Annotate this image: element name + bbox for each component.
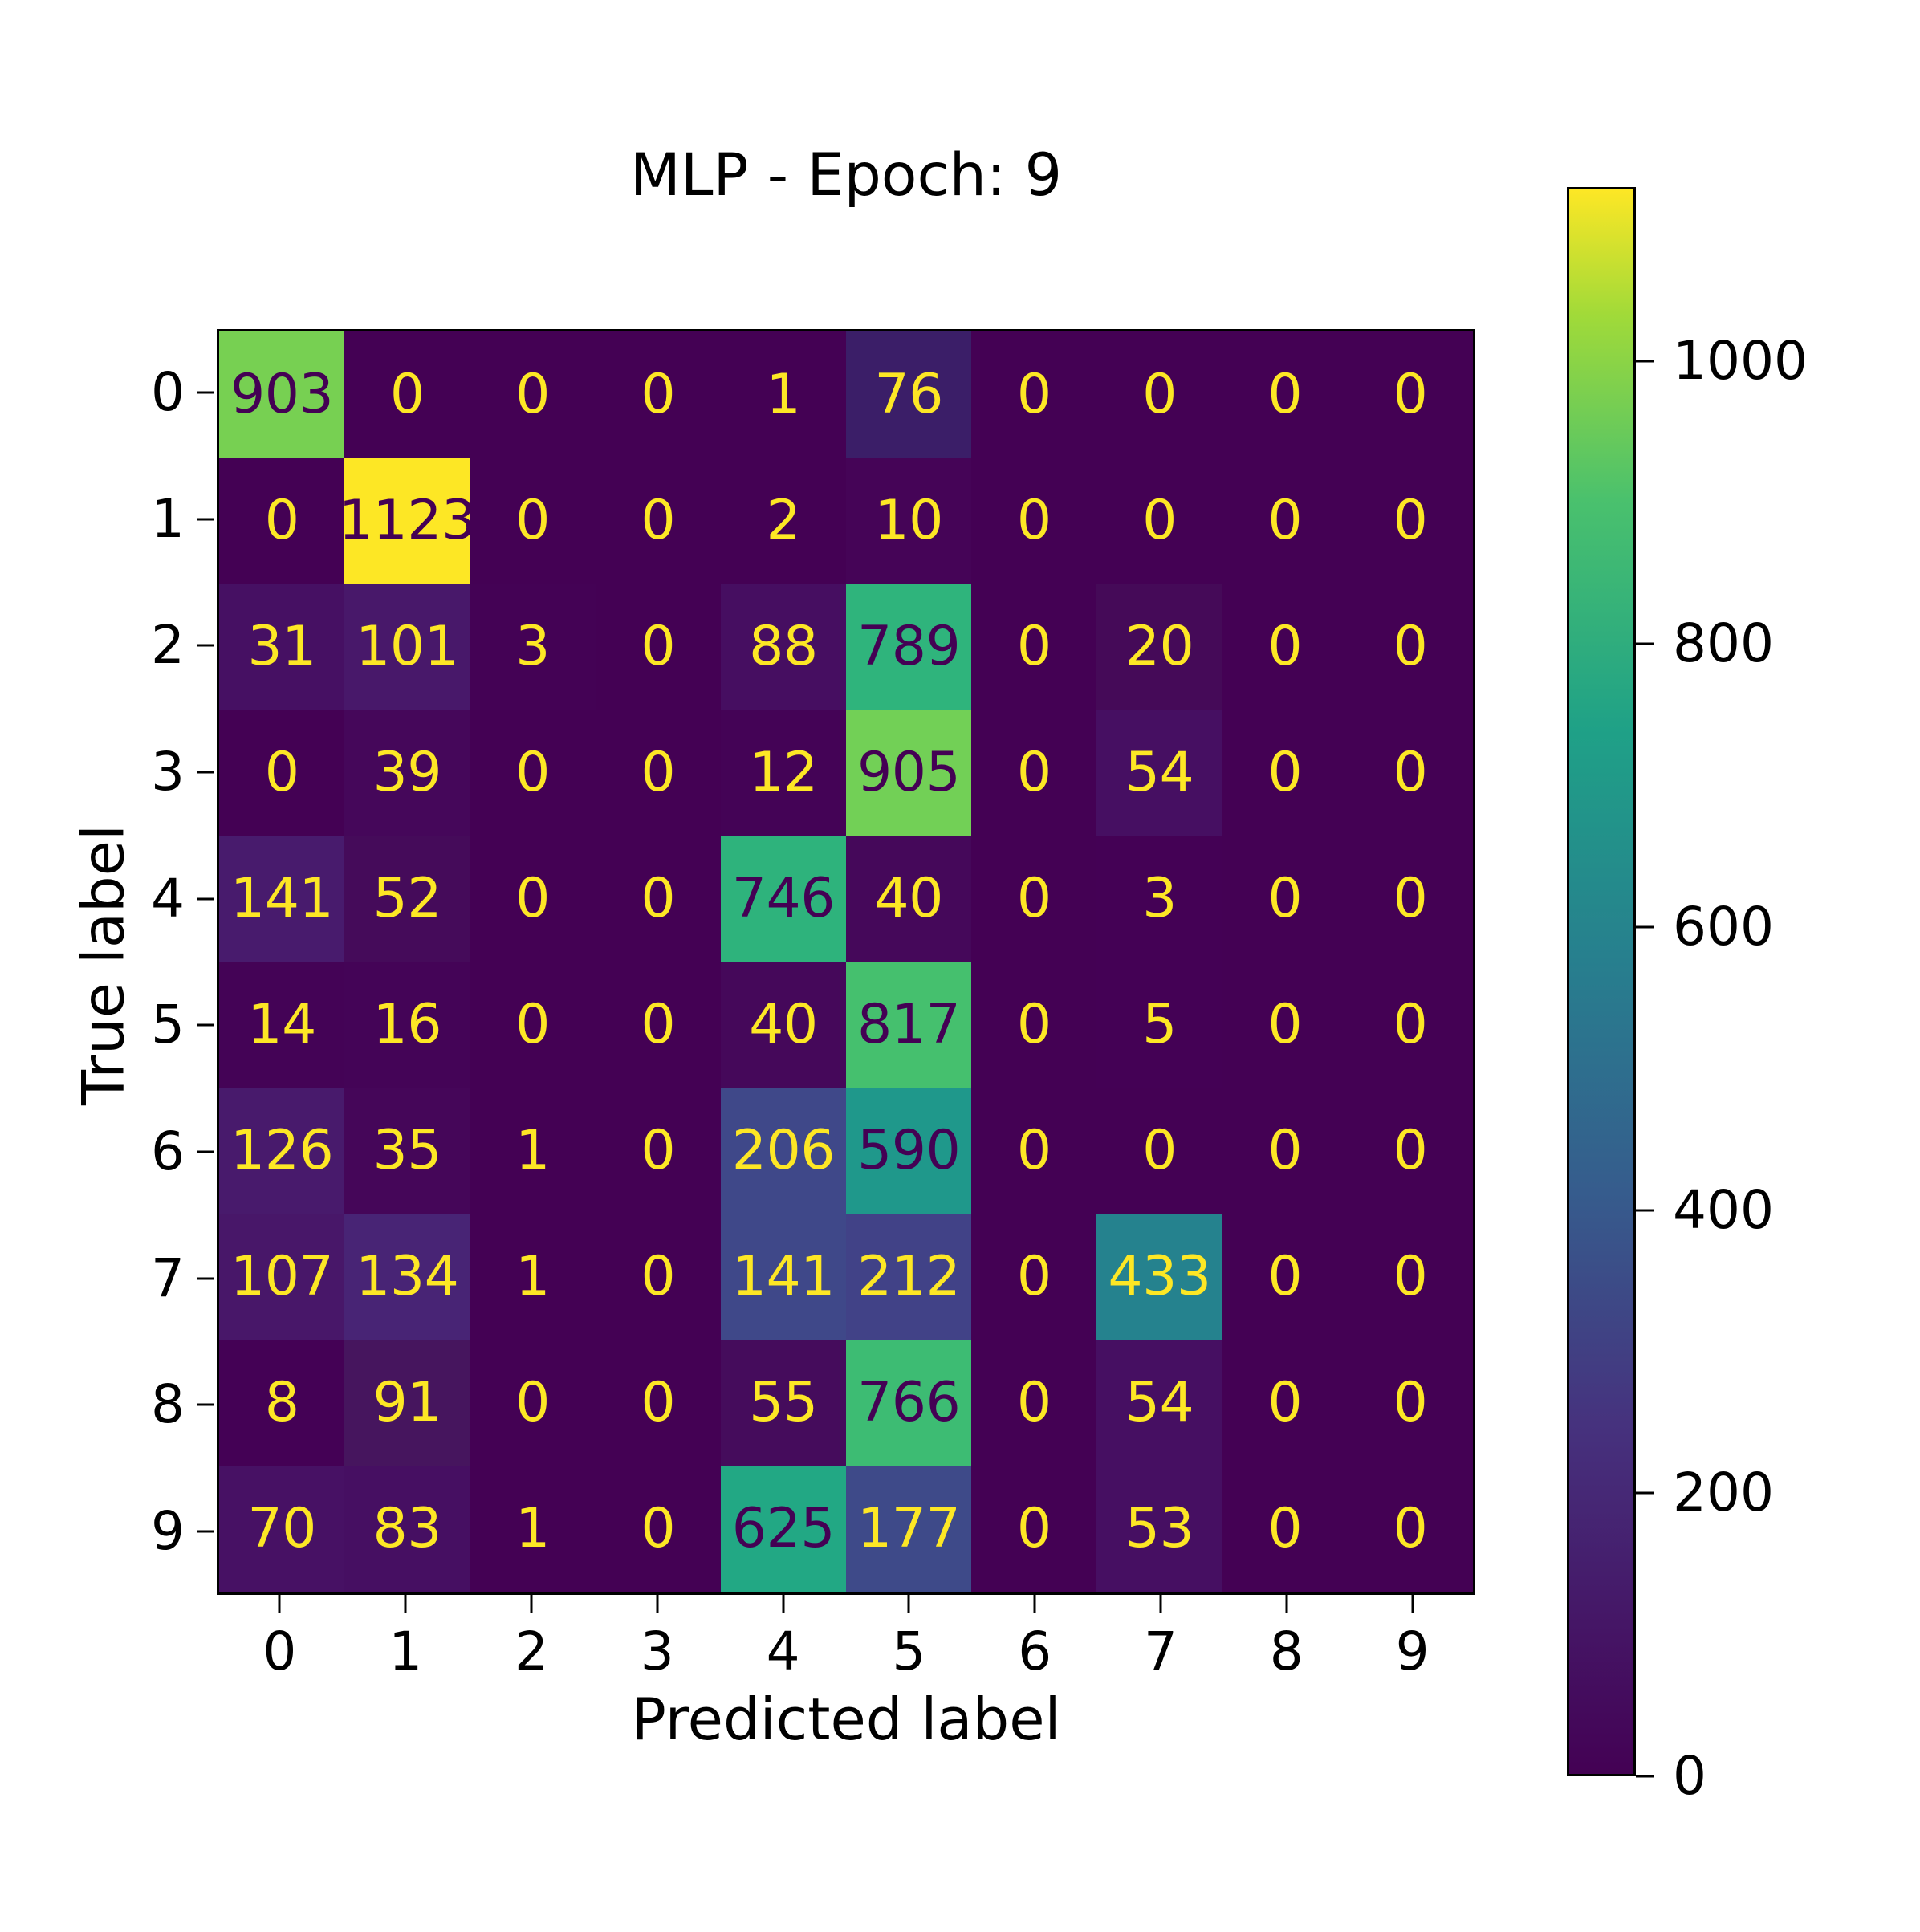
heatmap-cell-value: 0 [641,368,675,422]
heatmap-cell: 0 [1222,331,1348,458]
heatmap-cell: 0 [596,1466,721,1592]
heatmap-cell: 0 [1348,1214,1473,1340]
heatmap-cell: 40 [846,836,971,962]
heatmap-cell: 433 [1096,1214,1222,1340]
heatmap-cell-value: 5 [1142,998,1177,1052]
heatmap-cell-value: 0 [515,872,550,926]
y-tick-mark [197,1024,214,1027]
heatmap-cell: 0 [1348,710,1473,836]
heatmap-cell-value: 177 [857,1502,960,1556]
heatmap-cell-value: 746 [732,872,835,926]
heatmap-cell: 134 [344,1214,470,1340]
heatmap-cell-value: 0 [1267,620,1302,674]
heatmap-cell: 0 [1222,1340,1348,1466]
x-tick-label: 0 [231,1625,327,1678]
y-tick-mark [197,518,214,520]
heatmap-cell: 54 [1096,1340,1222,1466]
colorbar-tick-mark [1636,1492,1654,1495]
heatmap-cell-value: 0 [265,746,299,800]
x-tick-mark [405,1595,407,1613]
heatmap-cell: 1 [470,1466,595,1592]
heatmap-cell-value: 0 [1393,1502,1428,1556]
heatmap-cell: 746 [721,836,846,962]
heatmap-cell: 70 [219,1466,344,1592]
colorbar-tick-mark [1636,643,1654,645]
colorbar-tick-mark [1636,926,1654,929]
heatmap-cell-value: 20 [1125,620,1194,674]
heatmap-cell-value: 0 [1393,368,1428,422]
x-tick-label: 9 [1365,1625,1461,1678]
heatmap-cell-value: 35 [373,1124,442,1178]
heatmap-cell: 625 [721,1466,846,1592]
x-tick-label: 5 [860,1625,957,1678]
heatmap-cell-value: 0 [1017,1502,1052,1556]
heatmap-cell: 0 [1348,1466,1473,1592]
heatmap-cell: 16 [344,962,470,1088]
heatmap-cell: 0 [1222,962,1348,1088]
heatmap-cell-value: 0 [1393,872,1428,926]
heatmap-cell-value: 2 [767,494,801,548]
heatmap-cell-value: 70 [247,1502,316,1556]
heatmap-cell: 789 [846,584,971,710]
heatmap-cell: 55 [721,1340,846,1466]
heatmap-cell: 83 [344,1466,470,1592]
colorbar-tick-mark [1636,360,1654,362]
heatmap-cell: 12 [721,710,846,836]
heatmap-cell-value: 0 [1267,1124,1302,1178]
heatmap-cell-value: 1 [515,1124,550,1178]
heatmap-cell: 0 [1096,1088,1222,1214]
heatmap-cell: 0 [1222,458,1348,584]
heatmap-cell: 76 [846,331,971,458]
heatmap-cell: 212 [846,1214,971,1340]
y-tick-mark [197,1151,214,1153]
heatmap-cell: 101 [344,584,470,710]
heatmap-cell: 0 [470,710,595,836]
x-tick-label: 1 [357,1625,454,1678]
colorbar-ticks: 02004006008001000 [1636,187,1920,1776]
heatmap-cell: 817 [846,962,971,1088]
heatmap-cell: 0 [1222,584,1348,710]
heatmap-cell: 39 [344,710,470,836]
heatmap-cell: 0 [1222,836,1348,962]
heatmap-cell: 0 [596,1340,721,1466]
heatmap-cell: 0 [1348,1088,1473,1214]
heatmap-cell: 54 [1096,710,1222,836]
heatmap-cell-value: 31 [247,620,316,674]
heatmap-cell: 0 [971,331,1096,458]
colorbar-tick-label: 200 [1673,1466,1774,1519]
heatmap-cell: 0 [596,962,721,1088]
y-tick-mark [197,1531,214,1533]
heatmap-cell: 177 [846,1466,971,1592]
heatmap-cell: 5 [1096,962,1222,1088]
heatmap-cell: 903 [219,331,344,458]
heatmap-cell-value: 0 [1267,494,1302,548]
heatmap-cell: 2 [721,458,846,584]
heatmap-cell-value: 0 [1142,494,1177,548]
heatmap-cell: 590 [846,1088,971,1214]
heatmap-cell-value: 0 [641,998,675,1052]
heatmap-cell: 0 [971,1088,1096,1214]
heatmap-cell: 0 [470,331,595,458]
heatmap-cell: 0 [596,1214,721,1340]
heatmap-cell-value: 0 [515,998,550,1052]
heatmap-cell-value: 54 [1125,1376,1194,1430]
heatmap-cell-value: 134 [356,1250,458,1304]
heatmap-cell: 0 [1222,1088,1348,1214]
x-tick-label: 6 [986,1625,1083,1678]
heatmap-cell-value: 91 [373,1376,442,1430]
heatmap-cell: 14 [219,962,344,1088]
heatmap-cell-value: 0 [1393,494,1428,548]
heatmap-cell-value: 0 [641,494,675,548]
heatmap-cell-value: 1 [515,1250,550,1304]
heatmap-cell: 0 [344,331,470,458]
heatmap-cell-value: 0 [265,494,299,548]
heatmap-cell: 0 [470,458,595,584]
heatmap-grid: 9030001760000011230021000003110130887890… [219,331,1473,1592]
heatmap-cell-value: 0 [641,1250,675,1304]
x-tick-label: 4 [735,1625,832,1678]
heatmap-cell: 1 [470,1088,595,1214]
heatmap-cell: 905 [846,710,971,836]
heatmap-cell: 0 [596,836,721,962]
y-tick-mark [197,391,214,393]
heatmap-cell: 0 [1348,584,1473,710]
heatmap-cell: 0 [971,962,1096,1088]
heatmap-cell-value: 817 [857,998,960,1052]
heatmap-cell-value: 0 [641,620,675,674]
heatmap-cell-value: 3 [515,620,550,674]
heatmap-cell-value: 39 [373,746,442,800]
heatmap-cell-value: 0 [1393,746,1428,800]
heatmap-cell: 3 [1096,836,1222,962]
heatmap-cell-value: 3 [1142,872,1177,926]
heatmap-cell-value: 54 [1125,746,1194,800]
heatmap-cell-value: 8 [265,1376,299,1430]
x-tick-mark [279,1595,281,1613]
heatmap-cell-value: 0 [1393,1124,1428,1178]
heatmap-cell: 141 [721,1214,846,1340]
heatmap-cell: 126 [219,1088,344,1214]
heatmap-cell: 0 [470,962,595,1088]
heatmap-cell-value: 40 [749,998,818,1052]
heatmap-cell: 0 [596,458,721,584]
heatmap-cell-value: 0 [1267,746,1302,800]
y-tick-mark [197,897,214,900]
heatmap-cell: 0 [1348,458,1473,584]
heatmap-cell-value: 0 [1142,368,1177,422]
x-tick-mark [1034,1595,1036,1613]
heatmap-cell-value: 0 [1017,368,1052,422]
heatmap-cell: 88 [721,584,846,710]
heatmap-cell-value: 10 [874,494,943,548]
heatmap-cell: 0 [1348,1340,1473,1466]
y-tick-mark [197,645,214,647]
heatmap-cell: 0 [1096,331,1222,458]
x-tick-mark [782,1595,784,1613]
y-axis-label: True label [70,332,137,1598]
heatmap-cell-value: 83 [373,1502,442,1556]
colorbar-tick-mark [1636,1775,1654,1778]
heatmap-cell: 0 [596,1088,721,1214]
x-tick-label: 8 [1239,1625,1335,1678]
heatmap-cell: 0 [971,1214,1096,1340]
heatmap-cell-value: 0 [515,368,550,422]
heatmap-cell-value: 0 [1267,872,1302,926]
heatmap-cell: 141 [219,836,344,962]
heatmap-cell-value: 88 [749,620,818,674]
heatmap-cell-value: 212 [857,1250,960,1304]
heatmap-cell-value: 76 [874,368,943,422]
x-tick-mark [908,1595,910,1613]
heatmap-cell-value: 0 [1267,1376,1302,1430]
x-tick-mark [531,1595,533,1613]
heatmap-cell-value: 0 [515,746,550,800]
heatmap-cell-value: 206 [732,1124,835,1178]
heatmap-cell: 0 [971,458,1096,584]
heatmap-cell-value: 0 [1017,998,1052,1052]
x-tick-label: 2 [483,1625,580,1678]
heatmap-cell-value: 0 [1393,1250,1428,1304]
heatmap-cell-value: 40 [874,872,943,926]
colorbar-tick-label: 1000 [1673,335,1808,388]
heatmap-cell-value: 590 [857,1124,960,1178]
heatmap-cell-value: 101 [356,620,458,674]
heatmap-cell: 107 [219,1214,344,1340]
heatmap-cell: 0 [1348,836,1473,962]
heatmap-cell-value: 53 [1125,1502,1194,1556]
heatmap-cell: 10 [846,458,971,584]
heatmap-cell: 1 [470,1214,595,1340]
heatmap-cell: 0 [596,331,721,458]
x-axis-ticks: 0123456789 [217,1595,1475,1699]
x-tick-mark [1411,1595,1414,1613]
heatmap-cell: 206 [721,1088,846,1214]
heatmap-cell: 0 [1222,1214,1348,1340]
heatmap-axes: 9030001760000011230021000003110130887890… [217,329,1475,1595]
heatmap-cell-value: 0 [1017,1250,1052,1304]
colorbar: 02004006008001000 [1567,187,1636,1776]
heatmap-cell-value: 1 [767,368,801,422]
heatmap-cell-value: 0 [641,872,675,926]
heatmap-cell: 0 [596,584,721,710]
heatmap-cell-value: 0 [641,746,675,800]
heatmap-cell-value: 0 [1393,998,1428,1052]
heatmap-cell-value: 0 [1017,872,1052,926]
heatmap-cell-value: 789 [857,620,960,674]
heatmap-cell-value: 0 [641,1124,675,1178]
heatmap-cell-value: 126 [230,1124,333,1178]
heatmap-cell-value: 0 [515,494,550,548]
heatmap-cell: 0 [1222,1466,1348,1592]
heatmap-cell-value: 55 [749,1376,818,1430]
heatmap-cell: 0 [219,710,344,836]
page-title: MLP - Epoch: 9 [217,146,1475,205]
heatmap-cell-value: 0 [1393,620,1428,674]
heatmap-cell: 0 [1348,962,1473,1088]
heatmap-cell-value: 0 [1017,620,1052,674]
heatmap-cell-value: 903 [230,368,333,422]
heatmap-cell-value: 433 [1108,1250,1210,1304]
x-tick-mark [1160,1595,1162,1613]
heatmap-cell: 0 [1096,458,1222,584]
heatmap-cell-value: 0 [1267,998,1302,1052]
heatmap-cell: 0 [1348,331,1473,458]
heatmap-cell-value: 0 [1393,1376,1428,1430]
heatmap-cell: 1123 [344,458,470,584]
heatmap-cell-value: 0 [1017,1124,1052,1178]
heatmap-cell: 0 [470,836,595,962]
heatmap-cell: 0 [596,710,721,836]
x-axis-label: Predicted label [217,1686,1475,1753]
heatmap-cell-value: 141 [230,872,333,926]
x-tick-label: 3 [609,1625,706,1678]
heatmap-cell-value: 0 [1267,368,1302,422]
confusion-matrix-figure: MLP - Epoch: 9 0123456789 90300017600000… [0,0,1920,1932]
y-tick-mark [197,1277,214,1279]
colorbar-gradient [1567,187,1636,1776]
colorbar-tick-label: 600 [1673,901,1774,954]
heatmap-cell-value: 766 [857,1376,960,1430]
heatmap-cell: 20 [1096,584,1222,710]
heatmap-cell: 1 [721,331,846,458]
heatmap-cell-value: 107 [230,1250,333,1304]
heatmap-cell-value: 625 [732,1502,835,1556]
heatmap-cell: 35 [344,1088,470,1214]
heatmap-cell: 0 [971,1466,1096,1592]
heatmap-cell: 0 [971,584,1096,710]
heatmap-cell-value: 16 [373,998,442,1052]
heatmap-cell-value: 0 [1017,1376,1052,1430]
heatmap-cell: 0 [470,1340,595,1466]
heatmap-cell-value: 905 [857,746,960,800]
heatmap-cell-value: 0 [641,1502,675,1556]
heatmap-cell-value: 141 [732,1250,835,1304]
heatmap-cell: 91 [344,1340,470,1466]
colorbar-tick-label: 400 [1673,1184,1774,1237]
heatmap-cell-value: 14 [247,998,316,1052]
heatmap-cell-value: 0 [1017,494,1052,548]
colorbar-tick-mark [1636,1209,1654,1211]
heatmap-cell: 52 [344,836,470,962]
heatmap-cell: 0 [1222,710,1348,836]
colorbar-tick-label: 800 [1673,617,1774,670]
colorbar-tick-label: 0 [1673,1750,1706,1803]
heatmap-cell-value: 0 [390,368,425,422]
x-tick-mark [1285,1595,1287,1613]
heatmap-cell-value: 12 [749,746,818,800]
heatmap-cell-value: 0 [1017,746,1052,800]
x-tick-mark [656,1595,658,1613]
heatmap-cell: 0 [219,458,344,584]
heatmap-cell: 8 [219,1340,344,1466]
heatmap-cell: 0 [971,836,1096,962]
heatmap-cell: 53 [1096,1466,1222,1592]
heatmap-cell: 31 [219,584,344,710]
y-tick-mark [197,1404,214,1406]
y-tick-mark [197,771,214,773]
heatmap-cell-value: 1 [515,1502,550,1556]
heatmap-cell-value: 0 [641,1376,675,1430]
heatmap-cell-value: 52 [373,872,442,926]
heatmap-cell-value: 0 [515,1376,550,1430]
heatmap-cell-value: 0 [1267,1502,1302,1556]
heatmap-cell: 40 [721,962,846,1088]
heatmap-cell: 766 [846,1340,971,1466]
heatmap-cell-value: 0 [1267,1250,1302,1304]
heatmap-cell-value: 0 [1142,1124,1177,1178]
heatmap-cell-value: 1123 [344,494,470,548]
x-tick-label: 7 [1113,1625,1209,1678]
heatmap-cell: 0 [971,1340,1096,1466]
heatmap-cell: 3 [470,584,595,710]
heatmap-cell: 0 [971,710,1096,836]
